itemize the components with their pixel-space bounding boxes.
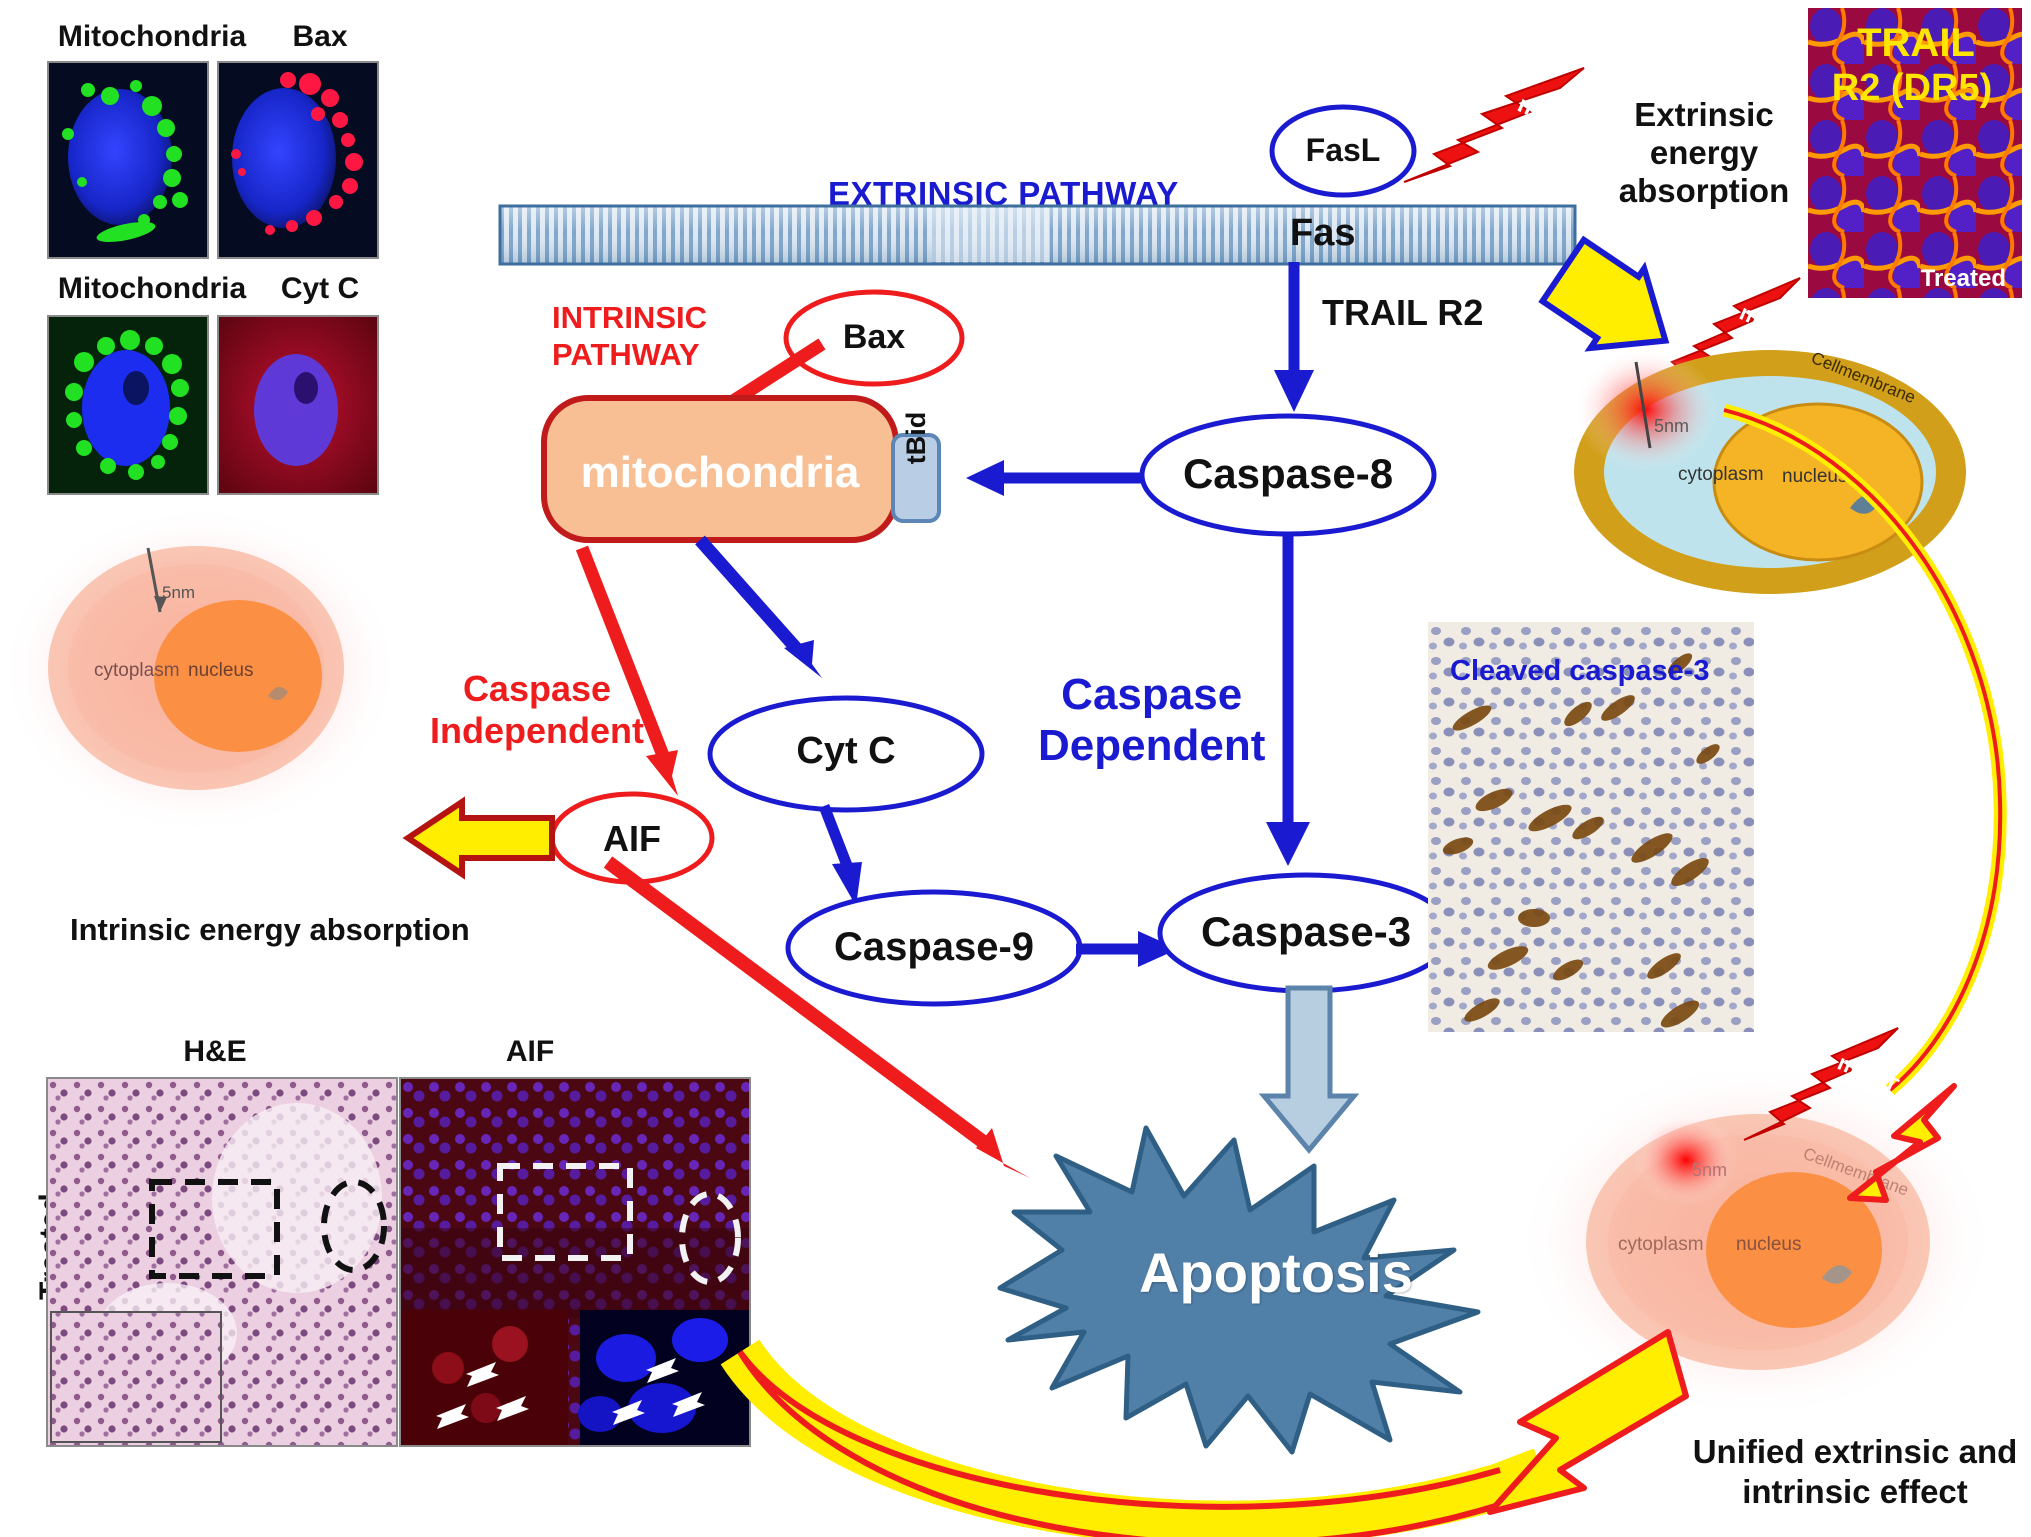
arrow-fas-to-caspase8 <box>1264 262 1324 422</box>
thickness-label-left: 5nm <box>162 583 195 602</box>
caspase-dependent-label: Caspase Dependent <box>1038 670 1265 771</box>
panel-label-mitochondria-1: Mitochondria <box>42 20 262 54</box>
arrow-intrinsic-to-unified <box>700 1330 1760 1537</box>
arrow-caspase8-to-caspase3 <box>1258 534 1318 874</box>
micrograph-mitochondria-1 <box>48 62 208 258</box>
meht-bolt-label-1: mEHT <box>1514 91 1589 144</box>
arrow-caspase8-to-tbid <box>946 458 1146 498</box>
cell-schematic-intrinsic: 5nm cytoplasm nucleus <box>0 500 520 830</box>
extrinsic-energy-absorption-label: Extrinsic energy absorption <box>1594 96 1814 210</box>
panel-label-bax: Bax <box>250 20 390 54</box>
trail-label-line2: R2 (DR5) <box>1832 67 1992 109</box>
node-mitochondria-label: mitochondria <box>540 448 900 498</box>
thickness-label-unified: 5nm <box>1692 1160 1727 1180</box>
intrinsic-energy-absorption-label: Intrinsic energy absorption <box>70 912 470 948</box>
cytoplasm-label-left: cytoplasm <box>94 660 180 681</box>
panel-label-he: H&E <box>130 1035 300 1069</box>
micrograph-cyt-c <box>218 316 378 494</box>
aif-red-inset <box>400 1310 568 1446</box>
meht-bolt-icon-1: mEHT <box>1398 60 1588 200</box>
node-caspase8-label: Caspase-8 <box>1138 450 1438 498</box>
plasma-membrane-bar <box>500 206 1575 264</box>
node-fasl-label: FasL <box>1268 132 1418 169</box>
micrograph-cleaved-caspase3: Cleaved caspase-3 <box>1428 622 1754 1032</box>
thickness-label-topright: 5nm <box>1654 416 1689 436</box>
panel-label-cyt-c: Cyt C <box>250 272 390 306</box>
node-cytc-label: Cyt C <box>706 730 986 774</box>
micrograph-mitochondria-2 <box>48 316 208 494</box>
node-aif-label: AIF <box>548 818 716 859</box>
node-caspase3-label: Caspase-3 <box>1156 908 1456 956</box>
nucleus-label-unified: nucleus <box>1736 1234 1802 1255</box>
nucleus-label-left: nucleus <box>188 660 254 681</box>
arrow-aif-to-intrinsic-cell <box>400 792 560 884</box>
panel-label-mitochondria-2: Mitochondria <box>42 272 262 306</box>
trail-label-line1: TRAIL <box>1857 21 1975 65</box>
trail-corner-label: Treated <box>1921 265 2006 292</box>
node-tbid-label: tBid <box>890 392 942 484</box>
arrowhead-extrinsic-unified <box>1828 1080 1978 1220</box>
micrograph-he <box>47 1078 397 1446</box>
trail-r2-label: TRAIL R2 <box>1322 292 1483 333</box>
caspase-independent-label: Caspase Independent <box>430 668 644 753</box>
cleaved-caspase3-label: Cleaved caspase-3 <box>1450 655 1710 687</box>
node-apoptosis-label: Apoptosis <box>966 1240 1586 1305</box>
micrograph-trail-r2: TRAIL R2 (DR5) Treated <box>1808 8 2022 298</box>
panel-label-aif: AIF <box>460 1035 600 1069</box>
figure-canvas: Mitochondria Bax <box>0 0 2031 1537</box>
cytoplasm-label-unified: cytoplasm <box>1618 1234 1704 1255</box>
node-fas-label: Fas <box>1290 212 1355 256</box>
micrograph-bax <box>218 62 378 258</box>
